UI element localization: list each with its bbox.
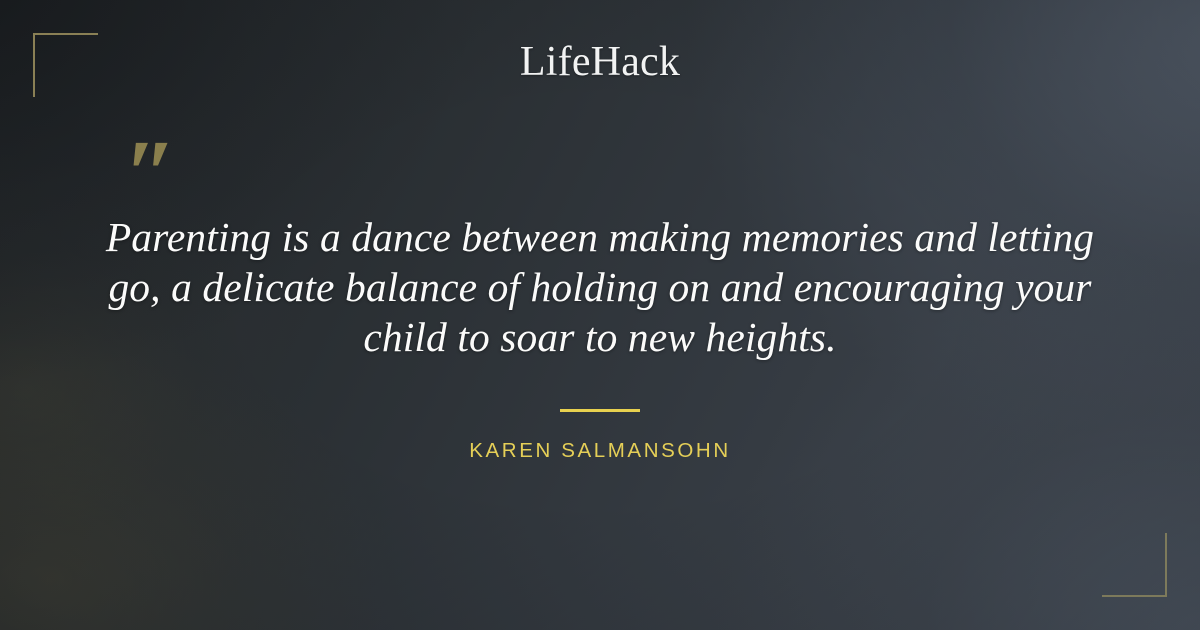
attribution-divider (560, 409, 640, 412)
brand-logo: LifeHack (0, 41, 1200, 83)
quote-line: child to soar to new heights. (84, 312, 1116, 362)
quote-card: LifeHack ″ Parenting is a dance between … (0, 0, 1200, 630)
quote-text: Parenting is a dance between making memo… (84, 212, 1116, 362)
quote-line: go, a delicate balance of holding on and… (84, 262, 1116, 312)
quotation-mark-icon: ″ (124, 126, 173, 222)
card-content: LifeHack ″ Parenting is a dance between … (0, 0, 1200, 630)
quote-author: KAREN SALMANSOHN (0, 439, 1200, 463)
quote-line: Parenting is a dance between making memo… (84, 212, 1116, 262)
